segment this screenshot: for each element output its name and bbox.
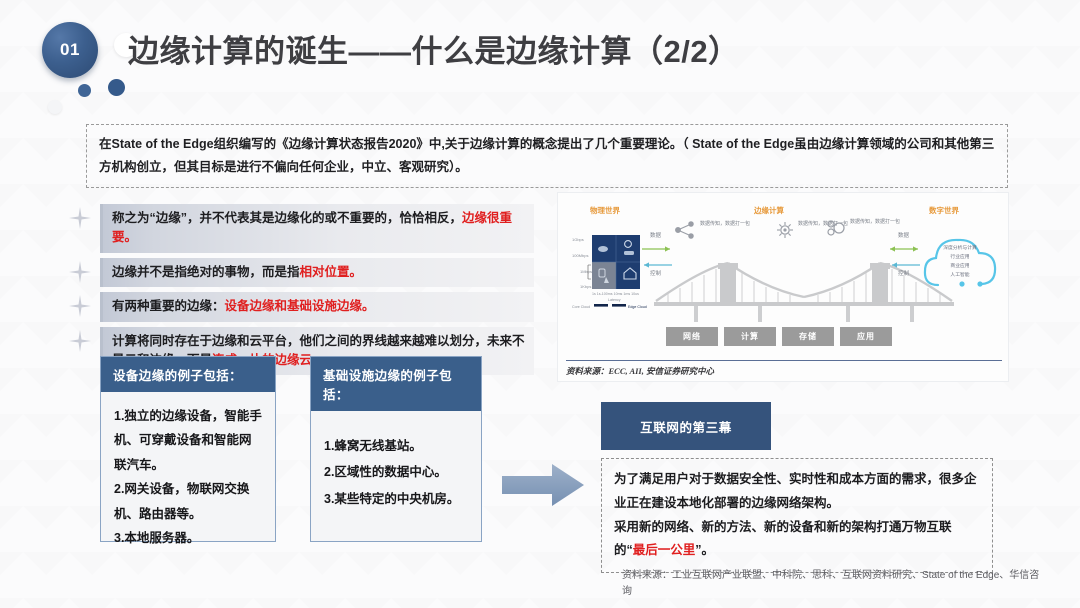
gear-node-icon: [776, 221, 794, 239]
list-item: 1.蜂窝无线基站。: [324, 433, 468, 459]
page-title: 边缘计算的诞生——什么是边缘计算（2/2）: [128, 26, 740, 71]
bullet-text: 边缘并不是指绝对的事物，而是指相对位置。: [100, 258, 534, 287]
latency-inset-chart: 1Gbps 100Mbps 1Mbps 1Kbps 1s 1s-100ms 10…: [572, 233, 648, 311]
infrastructure-edge-box-header: 基础设施边缘的例子包括：: [311, 357, 481, 411]
decor-circle-white-small: [48, 100, 62, 114]
svg-text:Edge Cloud: Edge Cloud: [628, 305, 647, 309]
bullet-row: 边缘并不是指绝对的事物，而是指相对位置。: [64, 258, 534, 287]
device-edge-box-header: 设备边缘的例子包括：: [101, 357, 275, 392]
intro-note: 在State of the Edge组织编写的《边缘计算状态报告2020》中,关…: [86, 124, 1008, 188]
cloud-line: 深度分析与计算: [928, 245, 992, 254]
section-number: 01: [60, 40, 80, 60]
diagram-source-caption: 资料来源：ECC, AII, 安信证券研究中心: [566, 360, 1002, 377]
diagram-node-label-1: 数据传知，数据打一包: [700, 221, 750, 229]
infrastructure-edge-examples-box: 基础设施边缘的例子包括： 1.蜂窝无线基站。 2.区域性的数据中心。 3.某些特…: [310, 356, 482, 542]
bullet-highlight: 相对位置。: [300, 265, 363, 279]
layer-box-storage: 存储: [782, 327, 834, 346]
section-number-badge: 01: [42, 22, 98, 78]
decor-circle-blue-medium: [108, 79, 125, 96]
svg-text:1Gbps: 1Gbps: [572, 237, 584, 242]
third-act-line-1: 为了满足用户对于数据安全性、实时性和成本方面的需求，很多企业正在建设本地化部署的…: [614, 468, 980, 516]
sparkle-icon: [64, 204, 100, 228]
diagram-zone-label-edge: 边缘计算: [754, 205, 784, 216]
layer-box-application: 应用: [840, 327, 892, 346]
list-item: 2.网关设备，物联网交换机、路由器等。: [114, 477, 262, 526]
third-act-highlight: 最后一公里: [633, 543, 696, 557]
sparkle-icon: [64, 258, 100, 282]
layer-box-compute: 计算: [724, 327, 776, 346]
third-act-line-2-suffix: ”。: [695, 543, 714, 557]
slide-footer-source: 资料来源：工业互联网产业联盟、中科院、思科、互联网资料研究、State of t…: [622, 568, 1042, 599]
flow-label-control-right: 控制: [898, 269, 909, 277]
right-arrow-icon: [500, 462, 586, 508]
flow-label-data-right: 数据: [898, 231, 909, 239]
infrastructure-edge-box-body: 1.蜂窝无线基站。 2.区域性的数据中心。 3.某些特定的中央机房。: [311, 411, 481, 526]
sparkle-icon: [64, 327, 100, 351]
svg-text:Core Cloud: Core Cloud: [572, 305, 590, 309]
list-item: 3.本地服务器。: [114, 526, 262, 550]
cloud-line: 行业应用: [928, 254, 992, 263]
svg-text:1Mbps: 1Mbps: [580, 269, 592, 274]
bullet-list: 称之为“边缘”，并不代表其是边缘化的或不重要的，恰恰相反，边缘很重要。 边缘并不…: [64, 204, 534, 380]
svg-text:100Mbps: 100Mbps: [572, 253, 588, 258]
sparkle-icon: [64, 292, 100, 316]
third-act-header: 互联网的第三幕: [601, 402, 771, 450]
flow-label-control-left: 控制: [650, 269, 661, 277]
bullet-text: 有两种重要的边缘：设备边缘和基础设施边缘。: [100, 292, 534, 321]
list-item: 3.某些特定的中央机房。: [324, 486, 468, 512]
bullet-plain: 边缘并不是指绝对的事物，而是指: [112, 265, 300, 279]
list-item: 1.独立的边缘设备，智能手机、可穿戴设备和智能网联汽车。: [114, 404, 262, 477]
cloud-line: 商业应用: [928, 263, 992, 272]
svg-text:Latency: Latency: [608, 298, 621, 302]
bullet-row: 称之为“边缘”，并不代表其是边缘化的或不重要的，恰恰相反，边缘很重要。: [64, 204, 534, 253]
diagram-node-label-3: 数据传知，数据打一包: [850, 219, 900, 227]
third-act-line-2: 采用新的网络、新的方法、新的设备和新的架构打通万物互联的“最后一公里”。: [614, 516, 980, 564]
bullet-plain: 有两种重要的边缘：: [112, 299, 225, 313]
bullet-highlight: 设备边缘和基础设施边缘。: [225, 299, 375, 313]
decor-circle-blue-small: [78, 84, 91, 97]
diagram-zone-label-digital: 数字世界: [929, 205, 959, 216]
layer-box-network: 网络: [666, 327, 718, 346]
bullet-text: 称之为“边缘”，并不代表其是边缘化的或不重要的，恰恰相反，边缘很重要。: [100, 204, 534, 253]
device-edge-examples-box: 设备边缘的例子包括： 1.独立的边缘设备，智能手机、可穿戴设备和智能网联汽车。 …: [100, 356, 276, 542]
slide-header: 01 边缘计算的诞生——什么是边缘计算（2/2）: [0, 0, 1080, 100]
cloud-line: 人工智能: [928, 272, 992, 281]
diagram-zone-label-physical: 物理世界: [590, 205, 620, 216]
third-act-body: 为了满足用户对于数据安全性、实时性和成本方面的需求，很多企业正在建设本地化部署的…: [601, 458, 993, 573]
svg-text:1Kbps: 1Kbps: [580, 284, 591, 289]
storage-node-icon: [826, 219, 846, 239]
edge-computing-bridge-diagram: 物理世界 边缘计算 数字世界 1Gbps 100Mbps 1Mbps 1Kbps…: [557, 192, 1009, 382]
share-node-icon: [674, 221, 696, 239]
list-item: 2.区域性的数据中心。: [324, 459, 468, 485]
device-edge-box-body: 1.独立的边缘设备，智能手机、可穿戴设备和智能网联汽车。 2.网关设备，物联网交…: [101, 392, 275, 564]
cloud-text-block: 深度分析与计算 行业应用 商业应用 人工智能: [928, 245, 992, 280]
bullet-row: 有两种重要的边缘：设备边缘和基础设施边缘。: [64, 292, 534, 321]
svg-text:1s 1s-100ms 10ms 1ms 10us: 1s 1s-100ms 10ms 1ms 10us: [592, 292, 639, 296]
flow-label-data-left: 数据: [650, 231, 661, 239]
bullet-plain: 称之为“边缘”，并不代表其是边缘化的或不重要的，恰恰相反，: [112, 211, 462, 225]
